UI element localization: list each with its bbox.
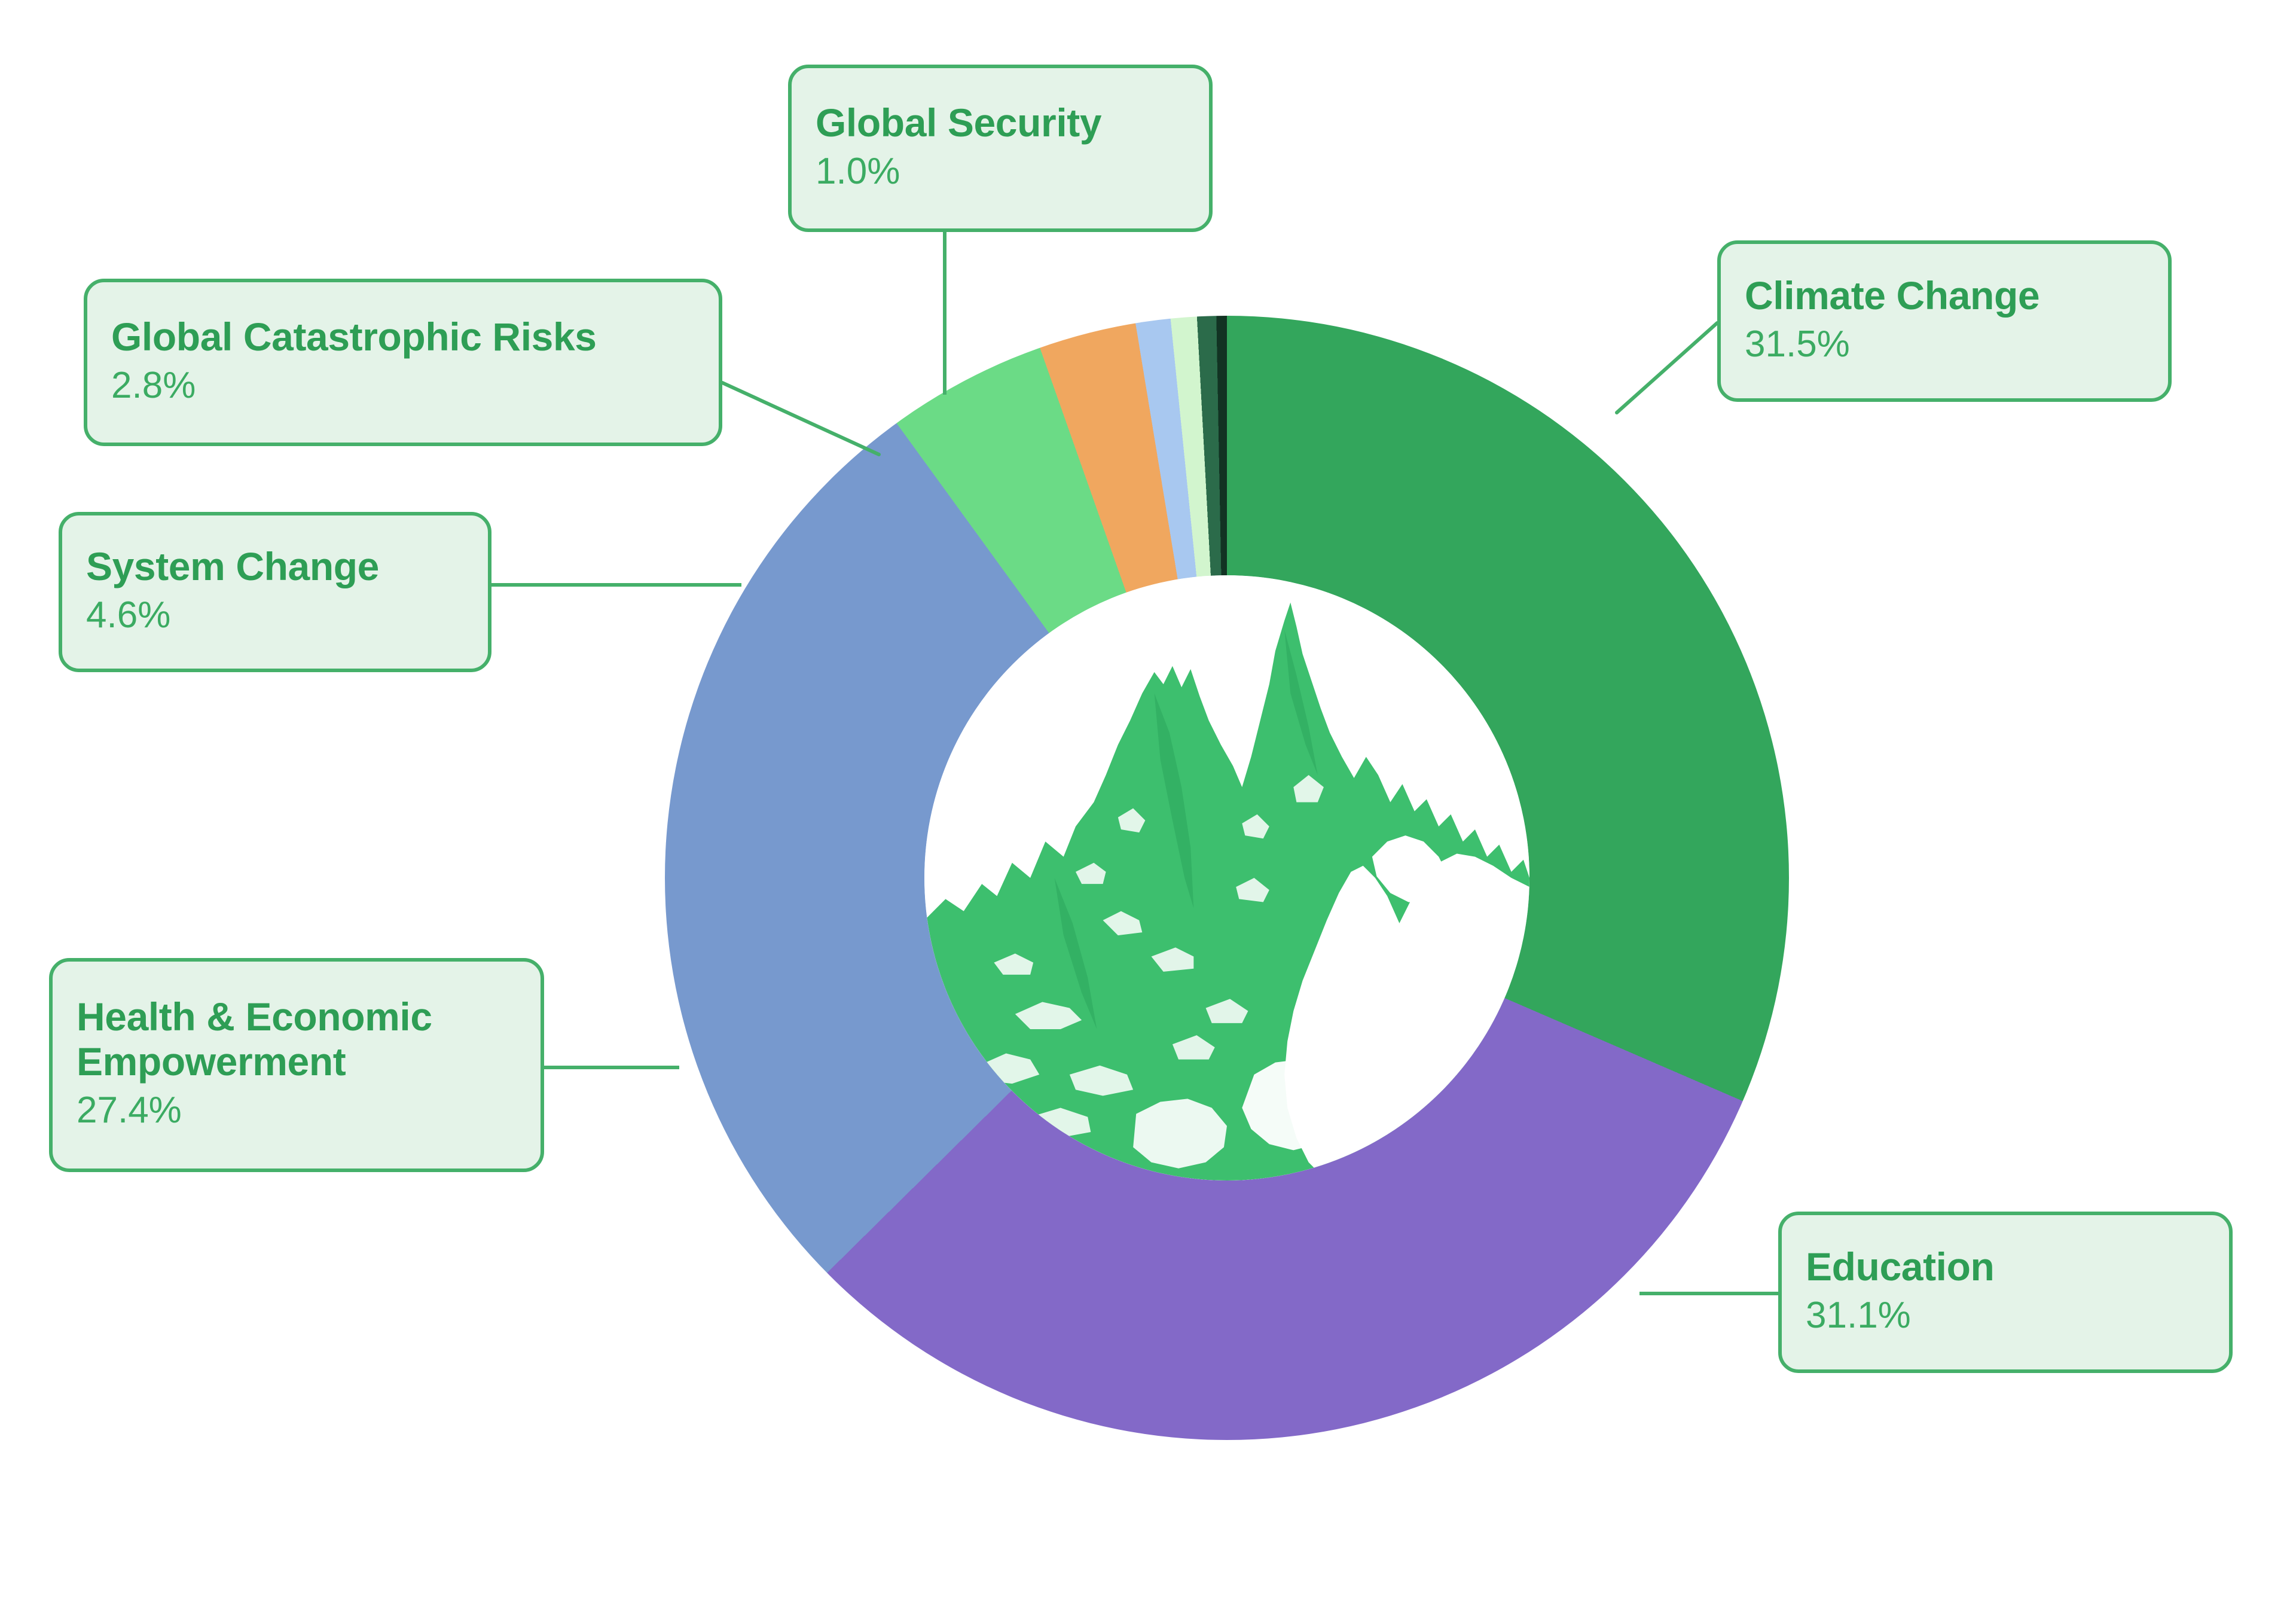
callout-title-global-catastrophic-risks: Global Catastrophic Risks bbox=[111, 315, 695, 359]
callout-title-system-change: System Change bbox=[86, 544, 464, 589]
callout-percent-education: 31.1% bbox=[1806, 1293, 2205, 1338]
callout-education[interactable]: Education 31.1% bbox=[1778, 1212, 2233, 1373]
callout-health-economic-empowerment[interactable]: Health & Economic Empowerment 27.4% bbox=[49, 958, 544, 1172]
callout-title-health-economic-empowerment: Health & Economic Empowerment bbox=[77, 994, 517, 1084]
callout-percent-global-security: 1.0% bbox=[816, 150, 1185, 194]
leader-line-system-change bbox=[491, 583, 741, 587]
callout-percent-climate-change: 31.5% bbox=[1745, 322, 2144, 367]
callout-global-catastrophic-risks[interactable]: Global Catastrophic Risks 2.8% bbox=[84, 279, 722, 446]
leader-line-education bbox=[1639, 1292, 1778, 1295]
donut-chart-figure: Global Security 1.0% Global Catastrophic… bbox=[0, 0, 2296, 1620]
callout-title-climate-change: Climate Change bbox=[1745, 273, 2144, 318]
callout-system-change[interactable]: System Change 4.6% bbox=[59, 512, 491, 672]
leader-line-climate-change bbox=[1617, 323, 1717, 413]
callout-percent-health-economic-empowerment: 27.4% bbox=[77, 1088, 517, 1133]
callout-title-education: Education bbox=[1806, 1244, 2205, 1289]
callout-title-global-security: Global Security bbox=[816, 100, 1185, 145]
leader-line-health-economic bbox=[544, 1066, 679, 1069]
callout-percent-global-catastrophic-risks: 2.8% bbox=[111, 364, 695, 408]
callout-climate-change[interactable]: Climate Change 31.5% bbox=[1717, 240, 2172, 402]
leader-line-catastrophic-risks bbox=[722, 383, 879, 454]
callout-percent-system-change: 4.6% bbox=[86, 593, 464, 637]
callout-global-security[interactable]: Global Security 1.0% bbox=[788, 65, 1213, 232]
